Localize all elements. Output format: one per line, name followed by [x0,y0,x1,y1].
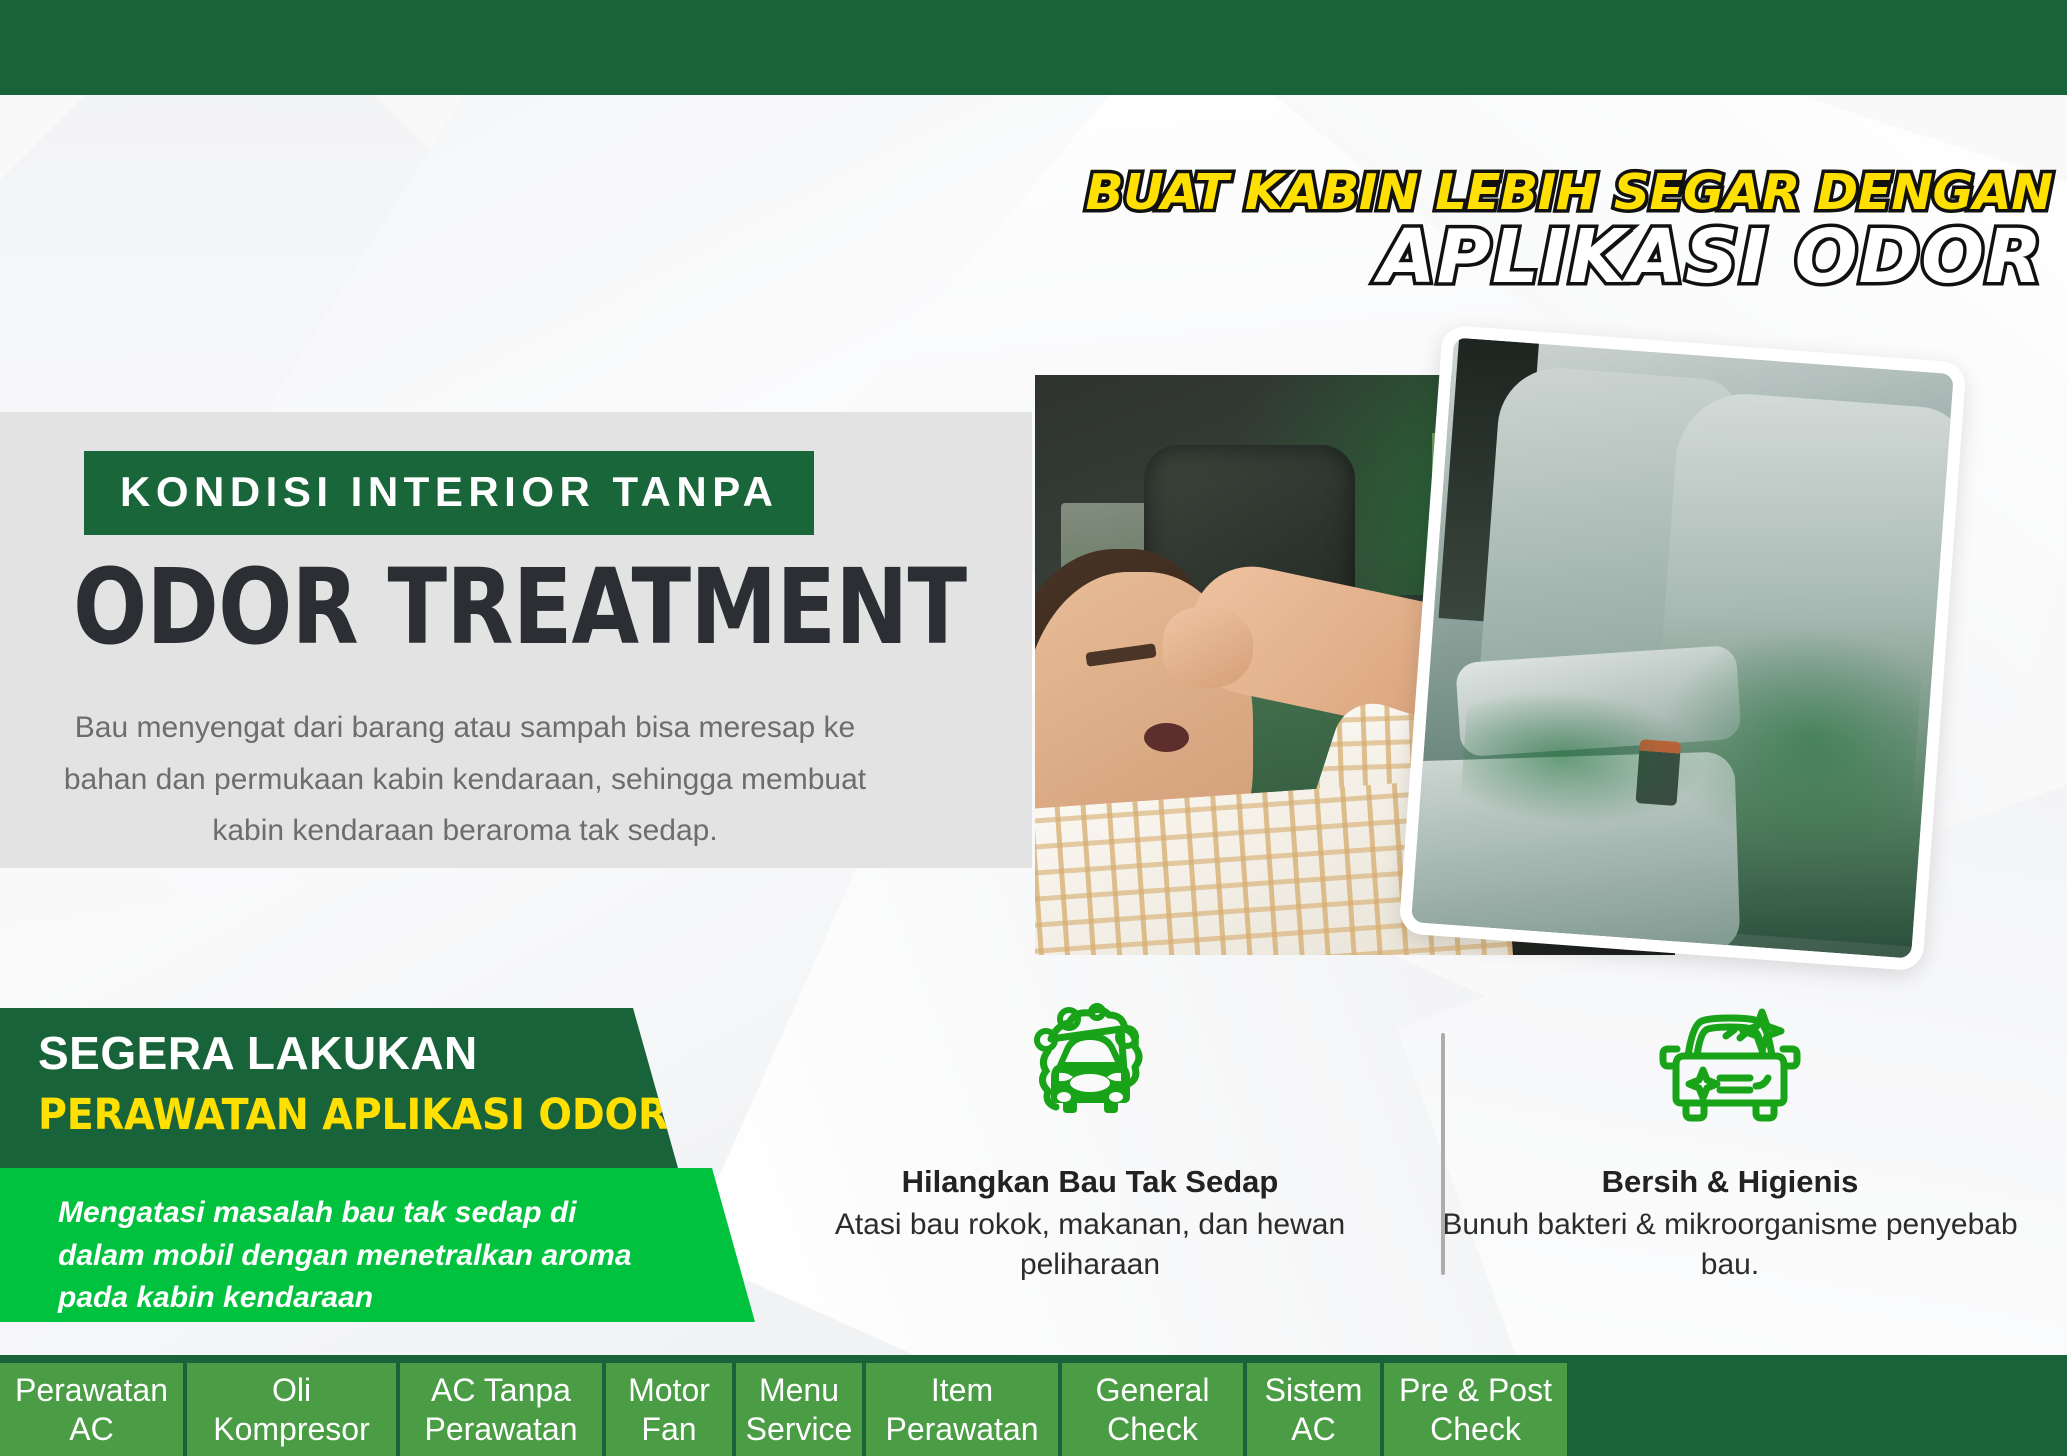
tab-sistem-ac[interactable]: Sistem AC [1247,1363,1384,1456]
fist [1163,607,1253,688]
feature-desc: Atasi bau rokok, makanan, dan hewan peli… [794,1205,1386,1284]
feature-item-2: Bersih & Higienis Bunuh bakteri & mikroo… [1410,1000,2050,1284]
sparkling-clean-car-icon [1434,1000,2026,1130]
tab-menu-service[interactable]: Menu Service [736,1363,866,1456]
feature-list: Hilangkan Bau Tak Sedap Atasi bau rokok,… [770,1000,2050,1330]
tab-perawatan-ac[interactable]: Perawatan AC [0,1363,187,1456]
tab-motor-fan[interactable]: Motor Fan [606,1363,736,1456]
cta-line-1: SEGERA LAKUKAN [38,1026,478,1080]
car-wash-foam-icon [794,1000,1386,1130]
tab-ac-tanpa-perawatan[interactable]: AC Tanpa Perawatan [400,1363,606,1456]
cta-line-2: PERAWATAN APLIKASI ODOR [38,1090,668,1140]
page-title: ODOR TREATMENT [73,555,966,659]
photo-car-front-seat [1398,325,1966,972]
odor-overlay-2 [1648,611,1925,864]
kondisi-label: KONDISI INTERIOR TANPA [84,451,814,535]
feature-divider [1441,1033,1445,1275]
tab-pre-post-check[interactable]: Pre & Post Check [1384,1363,1567,1456]
headline-line-1: BUAT KABIN LEBIH SEGAR DENGAN [1085,168,2052,217]
feature-item-1: Hilangkan Bau Tak Sedap Atasi bau rokok,… [770,1000,1410,1284]
feature-title: Hilangkan Bau Tak Sedap [794,1164,1386,1200]
tab-item-perawatan[interactable]: Item Perawatan [866,1363,1062,1456]
cta-description: Mengatasi masalah bau tak sedap di dalam… [58,1192,658,1320]
mouth [1144,723,1189,752]
poster-canvas: BUAT KABIN LEBIH SEGAR DENGAN APLIKASI O… [0,0,2067,1456]
info-panel-body: Bau menyengat dari barang atau sampah bi… [60,702,870,857]
top-green-bar [0,0,2067,95]
feature-title: Bersih & Higienis [1434,1164,2026,1200]
headline-block: BUAT KABIN LEBIH SEGAR DENGAN APLIKASI O… [1095,168,2043,295]
cta-banner-dark: SEGERA LAKUKAN PERAWATAN APLIKASI ODOR [0,1008,680,1168]
bottom-tab-bar[interactable]: Perawatan AC Oli Kompresor AC Tanpa Pera… [0,1355,2067,1456]
cta-banner-light: Mengatasi masalah bau tak sedap di dalam… [0,1168,760,1322]
tab-oli-kompresor[interactable]: Oli Kompresor [187,1363,400,1456]
headline-line-2: APLIKASI ODOR [1378,220,2043,295]
tab-general-check[interactable]: General Check [1062,1363,1247,1456]
feature-desc: Bunuh bakteri & mikroorganisme penyebab … [1434,1205,2026,1284]
